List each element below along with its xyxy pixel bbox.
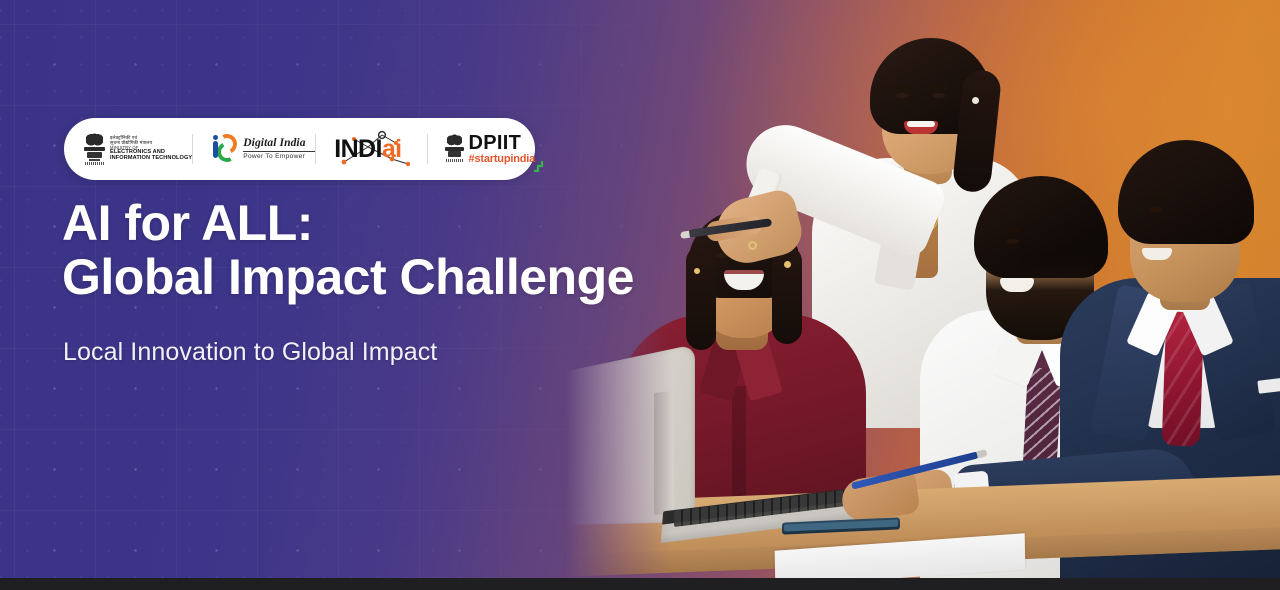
- hair: [1118, 140, 1254, 244]
- smile: [1000, 278, 1034, 292]
- state-emblem-icon: [84, 132, 105, 166]
- page-subtitle: Local Innovation to Global Impact: [63, 338, 437, 367]
- dpiit-text: DPIIT #startupindia: [469, 133, 535, 165]
- smile: [1142, 248, 1172, 260]
- page-title: AI for ALL: Global Impact Challenge: [62, 196, 634, 304]
- eye-left: [896, 93, 909, 98]
- digital-india-text: Digital India Power To Empower: [243, 137, 315, 160]
- hair-side-left: [686, 246, 716, 350]
- logo-bar: इलेक्ट्रॉनिकी एवं सूचना प्रौद्योगिकी मंत…: [64, 118, 535, 180]
- indiaai-ai: ai: [382, 135, 402, 163]
- headline-line-2: Global Impact Challenge: [62, 250, 634, 304]
- logo-meity[interactable]: इलेक्ट्रॉनिकी एवं सूचना प्रौद्योगिकी मंत…: [84, 118, 192, 180]
- earring: [972, 97, 979, 104]
- dpiit-name: DPIIT: [469, 133, 535, 153]
- startup-india-arrow-icon: [533, 160, 546, 172]
- meity-bold-line2: INFORMATION TECHNOLOGY: [110, 156, 192, 162]
- logo-digital-india[interactable]: Digital India Power To Empower: [210, 118, 315, 180]
- indiaai-wordmark: INDIai: [334, 135, 401, 164]
- digital-india-rule: [243, 151, 315, 152]
- logo-divider-1: [192, 134, 193, 164]
- digital-india-name: Digital India: [243, 137, 315, 150]
- indiaai-india: INDI: [334, 135, 382, 163]
- finger-ring: [748, 241, 757, 250]
- headline-line-1: AI for ALL:: [62, 196, 634, 250]
- logo-indiaai[interactable]: INDIai: [334, 129, 426, 169]
- meity-text: इलेक्ट्रॉनिकी एवं सूचना प्रौद्योगिकी मंत…: [110, 136, 192, 163]
- dpiit-emblem-icon: [445, 133, 464, 165]
- eye: [1006, 239, 1020, 244]
- eyebrow-right: [931, 84, 948, 89]
- hero-photo: [520, 0, 1280, 578]
- earring-left: [694, 268, 700, 274]
- earring-right: [784, 261, 791, 268]
- laptop-hinge: [654, 391, 674, 515]
- dpiit-tagline: #startupindia: [469, 154, 535, 165]
- logo-dpiit[interactable]: DPIIT #startupindia: [445, 118, 535, 180]
- eye: [1148, 207, 1162, 212]
- bottom-bar: [0, 578, 1280, 590]
- ai-for-all-banner: इलेक्ट्रॉनिकी एवं सूचना प्रौद्योगिकी मंत…: [0, 0, 1280, 590]
- laptop: [524, 362, 864, 542]
- digital-india-swirl-icon: [210, 133, 238, 165]
- logo-divider-2: [315, 134, 316, 164]
- pocket-square: [1257, 377, 1280, 394]
- hero-photo-mask: [520, 0, 1280, 578]
- digital-india-tagline: Power To Empower: [243, 153, 315, 160]
- eye-right: [932, 93, 945, 98]
